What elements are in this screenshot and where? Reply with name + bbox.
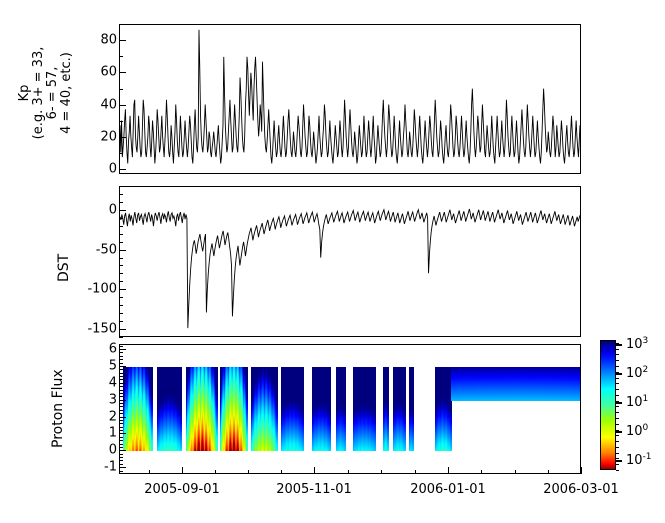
spectrogram-column <box>216 367 218 451</box>
x-tick-label: 2006-01-01 <box>410 482 486 497</box>
tick-mark <box>119 273 123 274</box>
tick-mark <box>616 344 622 346</box>
tick-mark <box>119 186 123 187</box>
tick-mark <box>119 297 123 298</box>
spectrogram-column <box>374 367 376 451</box>
tick-mark <box>616 354 619 355</box>
spectrogram-column <box>387 367 389 451</box>
tick-mark <box>119 24 123 25</box>
tick-mark <box>119 379 123 380</box>
spectrogram-column <box>151 367 153 451</box>
tick-mark <box>119 390 123 391</box>
y-tick-label: -1 <box>85 460 117 475</box>
tick-mark <box>119 433 123 434</box>
tick-mark <box>119 427 123 428</box>
tick-mark <box>119 242 123 243</box>
tick-mark <box>119 105 123 106</box>
colorbar-tick-label: 100 <box>626 423 648 439</box>
kp-series-line <box>120 25 580 173</box>
tick-mark <box>616 402 622 404</box>
kp-axis-label-line1: Kp <box>18 18 32 168</box>
spectrogram-column <box>276 367 278 451</box>
proton-flux-axis-label: Proton Flux <box>50 369 66 448</box>
tick-mark <box>616 383 619 384</box>
tick-mark <box>119 406 123 407</box>
tick-mark <box>616 373 622 375</box>
tick-mark <box>119 202 123 203</box>
y-tick-label: 20 <box>85 129 117 144</box>
tick-mark <box>119 457 123 458</box>
tick-mark <box>119 454 123 455</box>
kp-panel <box>119 24 581 174</box>
tick-mark <box>616 447 619 448</box>
tick-mark <box>119 403 123 404</box>
tick-mark <box>119 467 123 468</box>
tick-mark <box>119 218 123 219</box>
tick-mark <box>616 343 619 344</box>
tick-mark <box>119 359 123 360</box>
tick-mark <box>119 376 123 377</box>
spectrogram-column <box>302 367 304 451</box>
tick-mark <box>248 470 249 474</box>
tick-mark <box>149 470 150 474</box>
tick-mark <box>616 431 622 433</box>
tick-mark <box>119 420 123 421</box>
tick-mark <box>119 437 123 438</box>
tick-mark <box>548 470 549 474</box>
y-tick-label: -150 <box>85 322 117 337</box>
kp-axis-label-line2: (e.g. 3+ = 33, <box>32 18 46 168</box>
tick-mark <box>119 169 123 170</box>
tick-mark <box>119 410 123 411</box>
y-tick-label: 80 <box>85 33 117 48</box>
y-tick-label: 0 <box>85 202 117 217</box>
x-tick-label: 2006-03-01 <box>543 482 619 497</box>
tick-mark <box>515 470 516 474</box>
tick-mark <box>616 360 619 361</box>
tick-mark <box>616 372 619 373</box>
y-tick-label: 5 <box>85 358 117 373</box>
y-tick-label: -50 <box>85 242 117 257</box>
tick-mark <box>119 321 123 322</box>
dst-panel <box>119 186 581 337</box>
tick-mark <box>119 72 123 73</box>
y-tick-label: -100 <box>85 282 117 297</box>
spectrogram-column <box>404 367 406 451</box>
tick-mark <box>119 417 123 418</box>
tick-mark <box>616 435 619 436</box>
x-tick-label: 2005-09-01 <box>144 482 220 497</box>
tick-mark <box>448 467 449 474</box>
tick-mark <box>119 464 123 465</box>
tick-mark <box>348 470 349 474</box>
tick-mark <box>119 444 123 445</box>
tick-mark <box>281 470 282 474</box>
tick-mark <box>215 470 216 474</box>
data-trace <box>120 209 580 328</box>
data-trace <box>120 30 580 164</box>
tick-mark <box>119 313 123 314</box>
kp-axis-label-line4: 4 = 40, etc.) <box>60 18 74 168</box>
tick-mark <box>119 346 123 347</box>
tick-mark <box>616 406 619 407</box>
tick-mark <box>119 121 123 122</box>
tick-mark <box>314 467 315 474</box>
tick-mark <box>119 373 123 374</box>
tick-mark <box>616 430 619 431</box>
tick-mark <box>119 305 123 306</box>
y-tick-label: 40 <box>85 97 117 112</box>
spectrogram-column <box>344 367 346 451</box>
tick-mark <box>182 467 183 474</box>
tick-mark <box>616 470 619 471</box>
tick-mark <box>616 366 619 367</box>
spectrogram-column <box>246 367 248 451</box>
tick-mark <box>119 258 123 259</box>
tick-mark <box>119 450 123 451</box>
tick-mark <box>119 393 123 394</box>
tick-mark <box>119 265 123 266</box>
tick-mark <box>616 412 619 413</box>
tick-mark <box>381 470 382 474</box>
y-tick-label: 2 <box>85 409 117 424</box>
y-tick-label: 1 <box>85 426 117 441</box>
tick-mark <box>119 56 123 57</box>
tick-mark <box>616 424 619 425</box>
tick-mark <box>119 471 123 472</box>
tick-mark <box>119 363 123 364</box>
y-tick-label: 0 <box>85 443 117 458</box>
tick-mark <box>119 337 123 338</box>
tick-mark <box>119 281 123 282</box>
tick-mark <box>616 464 619 465</box>
tick-mark <box>119 396 123 397</box>
tick-mark <box>119 386 123 387</box>
spectrogram-column <box>329 367 331 451</box>
tick-mark <box>119 356 123 357</box>
tick-mark <box>616 453 619 454</box>
tick-mark <box>119 369 123 370</box>
kp-axis-label-line3: 6- = 57, <box>46 18 60 168</box>
tick-mark <box>119 250 123 251</box>
tick-mark <box>616 378 619 379</box>
colorbar-tick-label: 103 <box>626 336 648 352</box>
tick-mark <box>415 470 416 474</box>
y-tick-label: 60 <box>85 65 117 80</box>
tick-mark <box>616 418 619 419</box>
tick-mark <box>119 413 123 414</box>
tick-mark <box>119 89 123 90</box>
colorbar-tick-label: 10-1 <box>626 452 652 468</box>
tick-mark <box>119 137 123 138</box>
y-tick-label: 0 <box>85 162 117 177</box>
kp-axis-label: Kp (e.g. 3+ = 33, 6- = 57, 4 = 40, etc.) <box>18 18 74 168</box>
tick-mark <box>119 194 123 195</box>
tick-mark <box>119 460 123 461</box>
x-tick-label: 2005-11-01 <box>276 482 352 497</box>
colorbar-tick-label: 101 <box>626 394 648 410</box>
tick-mark <box>616 349 619 350</box>
tick-mark <box>119 430 123 431</box>
tick-mark <box>119 366 123 367</box>
proton-flux-spectrogram <box>120 345 580 473</box>
tick-mark <box>119 447 123 448</box>
tick-mark <box>481 470 482 474</box>
tick-mark <box>119 400 123 401</box>
spectrogram-column <box>180 367 182 451</box>
proton-flux-panel <box>119 344 581 474</box>
tick-mark <box>119 210 123 211</box>
spectrogram-column <box>412 367 414 451</box>
tick-mark <box>616 395 619 396</box>
tick-mark <box>581 467 582 474</box>
tick-mark <box>616 389 619 390</box>
y-tick-label: 6 <box>85 342 117 357</box>
tick-mark <box>119 349 123 350</box>
tick-mark <box>119 226 123 227</box>
colorbar <box>600 340 616 470</box>
tick-mark <box>119 153 123 154</box>
tick-mark <box>616 460 622 462</box>
tick-mark <box>616 441 619 442</box>
y-tick-label: 4 <box>85 375 117 390</box>
tick-mark <box>616 458 619 459</box>
tick-mark <box>119 440 123 441</box>
tick-mark <box>119 234 123 235</box>
colorbar-tick-label: 102 <box>626 365 648 381</box>
dst-axis-label: DST <box>56 254 72 282</box>
tick-mark <box>119 289 123 290</box>
tick-mark <box>119 383 123 384</box>
tick-mark <box>119 423 123 424</box>
figure-canvas: 020406080 Kp (e.g. 3+ = 33, 6- = 57, 4 =… <box>0 0 665 523</box>
y-tick-label: 3 <box>85 392 117 407</box>
tick-mark <box>119 329 123 330</box>
tick-mark <box>119 352 123 353</box>
dst-series-line <box>120 187 580 336</box>
tick-mark <box>119 40 123 41</box>
tick-mark <box>616 401 619 402</box>
